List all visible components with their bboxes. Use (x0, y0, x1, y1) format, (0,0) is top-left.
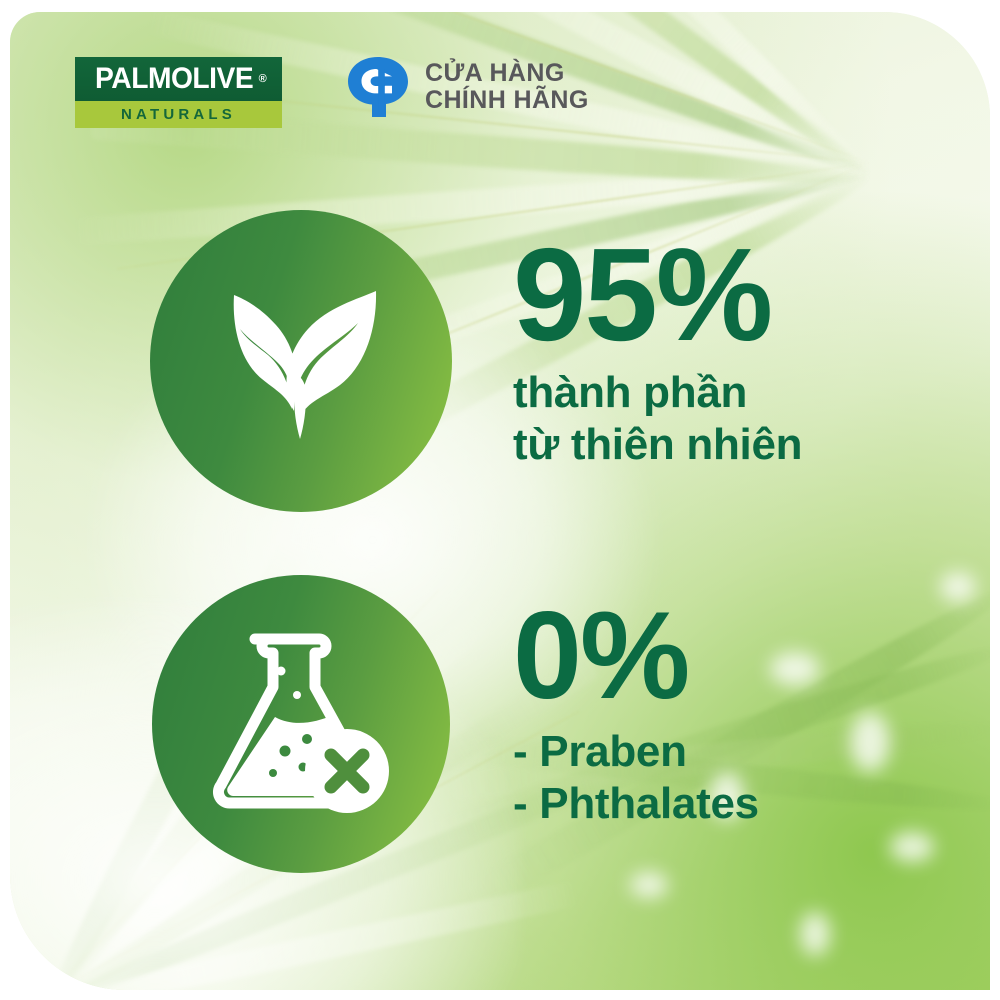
palmolive-subtitle: NATURALS (121, 107, 236, 122)
feature-1-stat: 95% (513, 232, 802, 357)
palmolive-brand-logo: PALMOLIVE® NATURALS (75, 57, 282, 128)
feature-2-text: 0% - Praben - Phthalates (513, 598, 759, 830)
palmolive-logo-box: PALMOLIVE® (75, 57, 282, 101)
feature-1-line-1: thành phần (513, 367, 802, 419)
cp-logo-icon (345, 55, 411, 119)
palmolive-wordmark: PALMOLIVE (95, 64, 253, 94)
sprout-leaf-icon-circle (150, 210, 452, 512)
feature-2-line-2: - Phthalates (513, 778, 759, 830)
background-palm-artwork (10, 12, 990, 990)
feature-1-text: 95% thành phần từ thiên nhiên (513, 232, 802, 471)
registered-trademark-icon: ® (259, 73, 267, 85)
official-store-label: CỬA HÀNG CHÍNH HÃNG (425, 60, 589, 114)
feature-1-line-2: từ thiên nhiên (513, 419, 802, 471)
flask-no-chemicals-icon-circle (152, 575, 450, 873)
feature-2-line-1: - Praben (513, 726, 759, 778)
official-store-badge: CỬA HÀNG CHÍNH HÃNG (345, 55, 589, 119)
sprout-leaf-icon (216, 269, 386, 454)
flask-no-chemicals-icon (211, 627, 391, 822)
official-store-line-2: CHÍNH HÃNG (425, 87, 589, 114)
official-store-line-1: CỬA HÀNG (425, 60, 589, 87)
palmolive-logo-band: NATURALS (75, 101, 282, 128)
promo-banner: PALMOLIVE® NATURALS CỬA HÀNG CHÍNH HÃNG (0, 0, 1000, 1000)
feature-2-stat: 0% (513, 598, 759, 716)
